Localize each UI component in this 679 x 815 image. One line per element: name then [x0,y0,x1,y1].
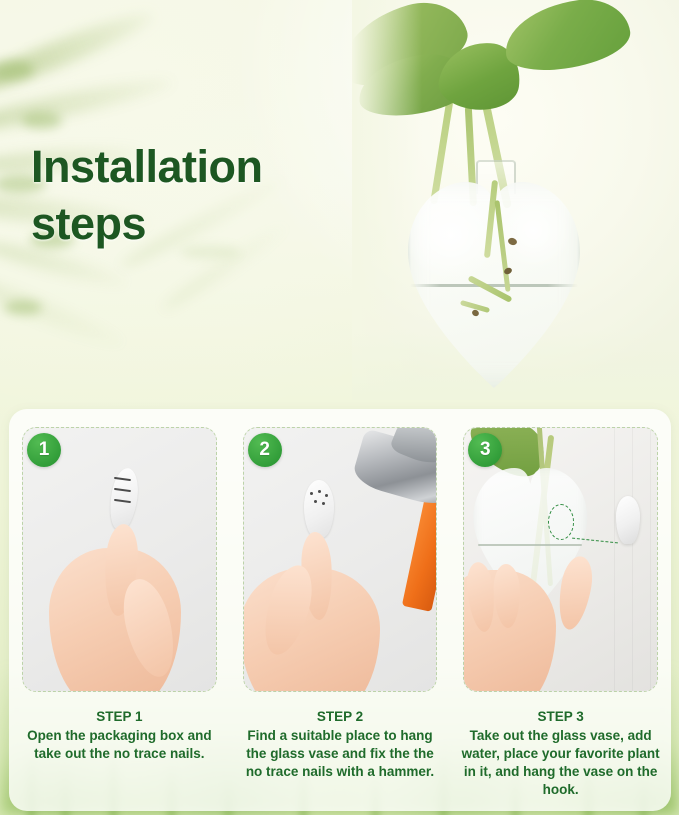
wall-hook [616,496,640,544]
step-caption: STEP 1 Open the packaging box and take o… [17,708,222,763]
installation-steps-card: 1 STEP 1 Open the packaging box and take… [9,409,671,811]
step-title: STEP 1 [17,708,222,726]
hook-pin-dot-icon [322,502,325,505]
hook-pin-dot-icon [310,492,313,495]
heart-glass-vase [404,176,584,388]
leaf-blur-icon [22,112,62,129]
wall-texture [650,428,651,691]
leaf-blur-icon [4,300,42,315]
page-title-line-2: steps [31,196,361,253]
no-trace-nail-hook [304,480,334,538]
vase-waterline [410,284,578,287]
step-photo-frame: 1 [22,427,217,692]
wall-texture [614,428,615,691]
wall-texture [632,428,633,691]
vase-waterline [478,544,582,546]
step-photo-frame: 3 [463,427,658,692]
step-column: 3 STEP 3 Take out the glass vase, add wa… [450,409,671,799]
hook-pin-dot-icon [318,490,321,493]
step-text: Open the packaging box and take out the … [27,728,212,761]
step-photo-frame: 2 [243,427,438,692]
step-title: STEP 2 [238,708,443,726]
hook-pin-dot-icon [314,500,317,503]
step-caption: STEP 3 Take out the glass vase, add wate… [458,708,663,799]
steps-row: 1 STEP 1 Open the packaging box and take… [9,409,671,799]
step-column: 2 STEP 2 Find a suitable place to hang t… [230,409,451,799]
step-text: Find a suitable place to hang the glass … [246,728,434,779]
step-text: Take out the glass vase, add water, plac… [462,728,660,797]
step-column: 1 STEP 1 Open the packaging box and take… [9,409,230,799]
step-title: STEP 3 [458,708,663,726]
step-caption: STEP 2 Find a suitable place to hang the… [238,708,443,781]
step-badge: 1 [27,433,61,467]
page-title-line-1: Installation [31,139,361,196]
page-title: Installation steps [31,139,361,252]
step-badge: 2 [248,433,282,467]
hook-pin-dot-icon [325,494,328,497]
